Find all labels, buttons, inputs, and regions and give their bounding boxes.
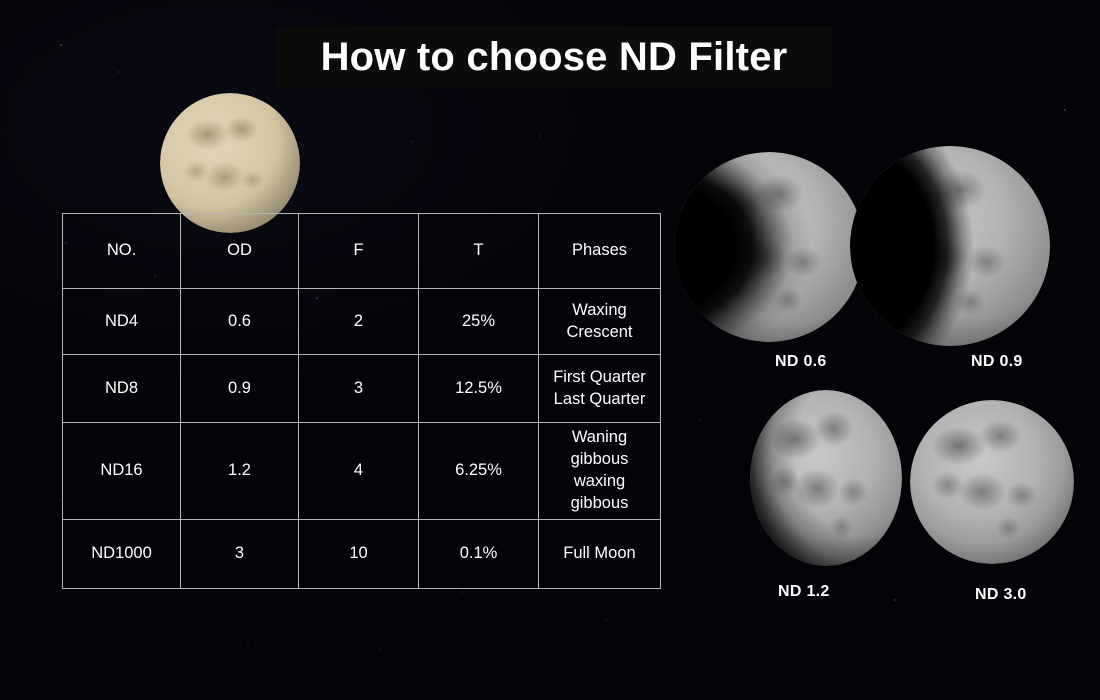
cell-od: 1.2 [181,423,299,520]
column-header-phases: Phases [539,214,661,289]
moon-label-nd-0-9: ND 0.9 [971,353,1023,371]
moon-label-nd-1-2: ND 1.2 [778,583,830,601]
moon-image-nd-0-9 [948,146,1050,346]
column-header-f: F [299,214,419,289]
moon-terminator-shadow [850,146,1050,346]
table-row: ND8 0.9 3 12.5% First QuarterLast Quarte… [63,355,661,423]
cell-f: 2 [299,289,419,355]
moon-label-nd-0-6: ND 0.6 [775,353,827,371]
table-header-row: NO. OD F T Phases [63,214,661,289]
moon-body [674,152,864,342]
nd-filter-table: NO. OD F T Phases ND4 0.6 2 25% WaxingCr… [62,213,661,589]
table-row: ND1000 3 10 0.1% Full Moon [63,520,661,589]
cell-no: ND1000 [63,520,181,589]
cell-od: 0.9 [181,355,299,423]
moon-image-nd-3-0 [910,400,1074,564]
cell-phases: First QuarterLast Quarter [539,355,661,423]
moon-body [850,146,1050,346]
cell-od: 0.6 [181,289,299,355]
moon-limb-shading [160,93,300,233]
cell-no: ND8 [63,355,181,423]
moon-terminator-shadow [750,390,902,566]
column-header-t: T [419,214,539,289]
cell-phases: Waninggibbouswaxinggibbous [539,423,661,520]
nd-filter-infographic: How to choose ND Filter NO. OD F T Phase… [0,0,1100,700]
cell-phases: WaxingCrescent [539,289,661,355]
cell-f: 10 [299,520,419,589]
moon-label-nd-3-0: ND 3.0 [975,586,1027,604]
moon-body [750,390,902,566]
column-header-no: NO. [63,214,181,289]
table-row: ND16 1.2 4 6.25% Waninggibbouswaxinggibb… [63,423,661,520]
moon-limb-shading [910,400,1074,564]
cell-od: 3 [181,520,299,589]
moon-terminator-shadow [674,152,864,342]
table-row: ND4 0.6 2 25% WaxingCrescent [63,289,661,355]
cell-no: ND16 [63,423,181,520]
cell-f: 4 [299,423,419,520]
cell-no: ND4 [63,289,181,355]
cell-phases: Full Moon [539,520,661,589]
cell-t: 25% [419,289,539,355]
cell-t: 12.5% [419,355,539,423]
cell-t: 0.1% [419,520,539,589]
moon-image-nd-1-2 [750,390,902,566]
cell-f: 3 [299,355,419,423]
page-title: How to choose ND Filter [276,26,832,88]
column-header-od: OD [181,214,299,289]
cell-t: 6.25% [419,423,539,520]
decorative-full-moon-image [160,93,300,233]
